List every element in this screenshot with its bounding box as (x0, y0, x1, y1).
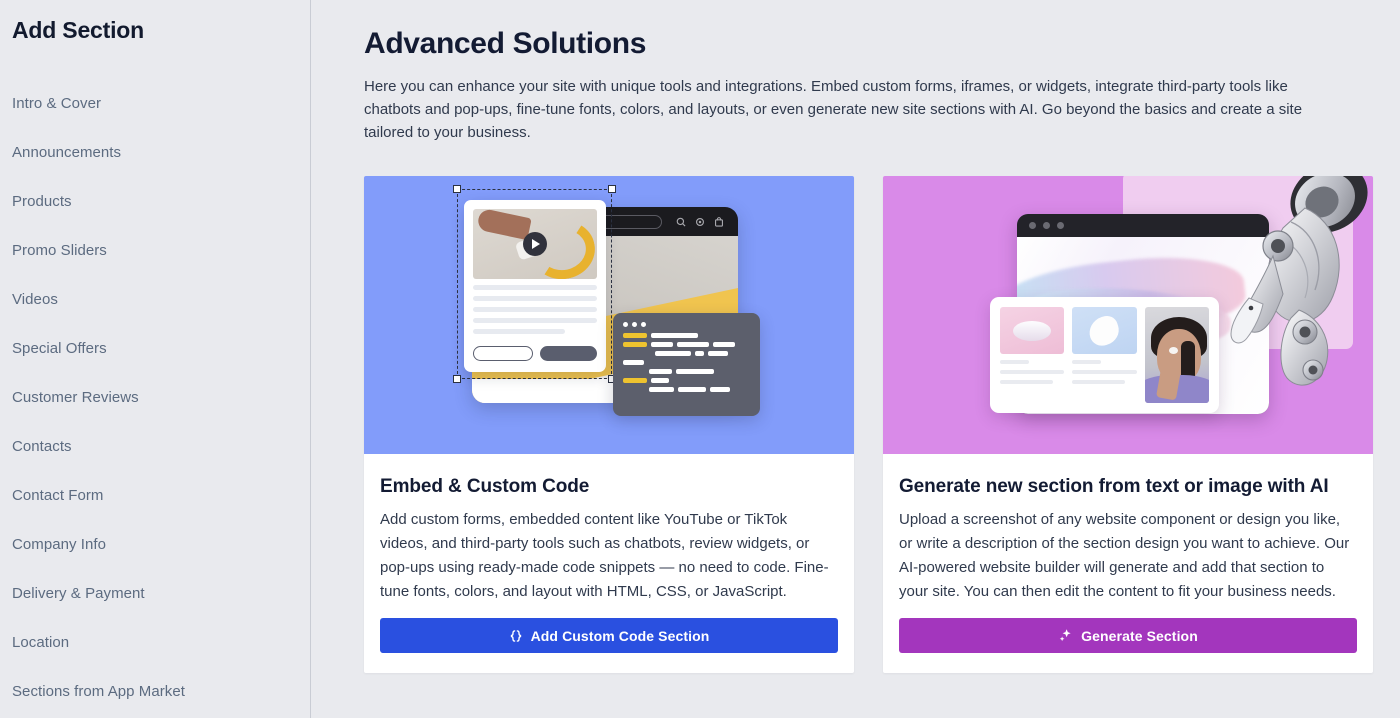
card-generate-with-ai: Generate new section from text or image … (883, 176, 1373, 673)
placeholder-line (473, 285, 597, 290)
code-line (623, 342, 750, 347)
sidebar-nav: Intro & Cover Announcements Products Pro… (12, 79, 310, 716)
card-footer: Add Custom Code Section (364, 604, 854, 673)
sparkles-icon (1058, 628, 1073, 643)
sidebar-item-special-offers[interactable]: Special Offers (12, 324, 310, 373)
placeholder-line (1000, 370, 1064, 374)
generate-section-button[interactable]: Generate Section (899, 618, 1357, 653)
window-dot (1057, 222, 1064, 229)
card-footer: Generate Section (883, 604, 1373, 673)
sidebar-item-label: Company Info (12, 536, 106, 553)
card-embed-custom-code: Embed & Custom Code Add custom forms, em… (364, 176, 854, 673)
play-icon[interactable] (523, 232, 547, 256)
placeholder-line (473, 307, 597, 312)
card-body: Generate new section from text or image … (883, 454, 1373, 604)
sidebar-item-label: Sections from App Market (12, 683, 185, 700)
page-description: Here you can enhance your site with uniq… (364, 75, 1309, 144)
card-description: Add custom forms, embedded content like … (380, 508, 838, 604)
card-illustration-ai (883, 176, 1373, 454)
resize-handle-top-left[interactable] (453, 185, 461, 193)
sidebar-item-label: Customer Reviews (12, 389, 139, 406)
sidebar-item-customer-reviews[interactable]: Customer Reviews (12, 373, 310, 422)
card-buttons-row (473, 346, 597, 361)
code-braces-icon (509, 629, 523, 643)
sidebar-item-label: Delivery & Payment (12, 585, 145, 602)
sidebar-item-label: Contacts (12, 438, 72, 455)
code-line (623, 369, 750, 374)
cream-dot-shape (1169, 347, 1178, 354)
placeholder-line (1072, 370, 1136, 374)
main-content: Advanced Solutions Here you can enhance … (311, 0, 1400, 718)
sidebar-item-intro-cover[interactable]: Intro & Cover (12, 79, 310, 128)
card-illustration-embed (364, 176, 854, 454)
smear-shape (1086, 313, 1123, 349)
sidebar-item-label: Products (12, 193, 72, 210)
code-line (623, 387, 750, 392)
sidebar-item-contact-form[interactable]: Contact Form (12, 471, 310, 520)
video-thumbnail (473, 209, 597, 279)
product-column (1072, 307, 1136, 403)
product-column (1000, 307, 1064, 403)
sidebar-item-label: Announcements (12, 144, 121, 161)
sidebar-item-announcements[interactable]: Announcements (12, 128, 310, 177)
placeholder-line (473, 296, 597, 301)
sidebar-item-label: Contact Form (12, 487, 103, 504)
sidebar-item-videos[interactable]: Videos (12, 275, 310, 324)
card-title: Generate new section from text or image … (899, 474, 1357, 500)
card-title: Embed & Custom Code (380, 474, 838, 500)
jar-shape (1013, 321, 1051, 341)
sidebar-item-label: Location (12, 634, 69, 651)
code-line (623, 378, 750, 383)
sidebar-item-location[interactable]: Location (12, 618, 310, 667)
placeholder-line (1072, 380, 1125, 384)
sidebar-item-label: Intro & Cover (12, 95, 101, 112)
resize-handle-bottom-left[interactable] (453, 375, 461, 383)
placeholder-line (473, 318, 597, 323)
search-icon (676, 217, 686, 227)
resize-handle-top-right[interactable] (608, 185, 616, 193)
placeholder-line (473, 329, 565, 334)
sidebar-item-promo-sliders[interactable]: Promo Sliders (12, 226, 310, 275)
window-dots (623, 322, 750, 327)
sidebar-item-label: Special Offers (12, 340, 107, 357)
hand-shape (476, 209, 531, 240)
window-dot (641, 322, 646, 327)
window-dot (1029, 222, 1036, 229)
button-label: Generate Section (1081, 628, 1198, 644)
product-image-cream-smear (1072, 307, 1136, 354)
sidebar-title: Add Section (12, 0, 310, 48)
sidebar-item-products[interactable]: Products (12, 177, 310, 226)
code-editor-panel (613, 313, 760, 416)
placeholder-line (1072, 360, 1101, 364)
window-dot (623, 322, 628, 327)
button-label: Add Custom Code Section (531, 628, 710, 644)
card-description: Upload a screenshot of any website compo… (899, 508, 1357, 604)
sidebar-item-delivery-payment[interactable]: Delivery & Payment (12, 569, 310, 618)
sidebar-item-label: Promo Sliders (12, 242, 107, 259)
secondary-button-placeholder[interactable] (473, 346, 533, 361)
code-line (623, 351, 750, 356)
sidebar-item-company-info[interactable]: Company Info (12, 520, 310, 569)
embedded-video-card (464, 200, 606, 372)
card-grid: Embed & Custom Code Add custom forms, em… (364, 176, 1372, 673)
page-title: Advanced Solutions (364, 26, 1372, 62)
product-image-model-portrait (1145, 307, 1209, 403)
app-root: Add Section Intro & Cover Announcements … (0, 0, 1400, 718)
sidebar-item-sections-from-app-market[interactable]: Sections from App Market (12, 667, 310, 716)
placeholder-line (1000, 380, 1053, 384)
add-custom-code-section-button[interactable]: Add Custom Code Section (380, 618, 838, 653)
product-image-cream-jar (1000, 307, 1064, 354)
code-line (623, 360, 750, 365)
code-line (623, 333, 750, 338)
window-dot (1043, 222, 1050, 229)
primary-button-placeholder[interactable] (540, 346, 598, 361)
window-dot (632, 322, 637, 327)
card-body: Embed & Custom Code Add custom forms, em… (364, 454, 854, 604)
placeholder-line (1000, 360, 1029, 364)
sidebar-item-contacts[interactable]: Contacts (12, 422, 310, 471)
gear-icon (695, 217, 705, 227)
product-grid-card (990, 297, 1219, 413)
cart-icon (714, 217, 724, 227)
sidebar-item-label: Videos (12, 291, 58, 308)
sidebar: Add Section Intro & Cover Announcements … (0, 0, 311, 718)
